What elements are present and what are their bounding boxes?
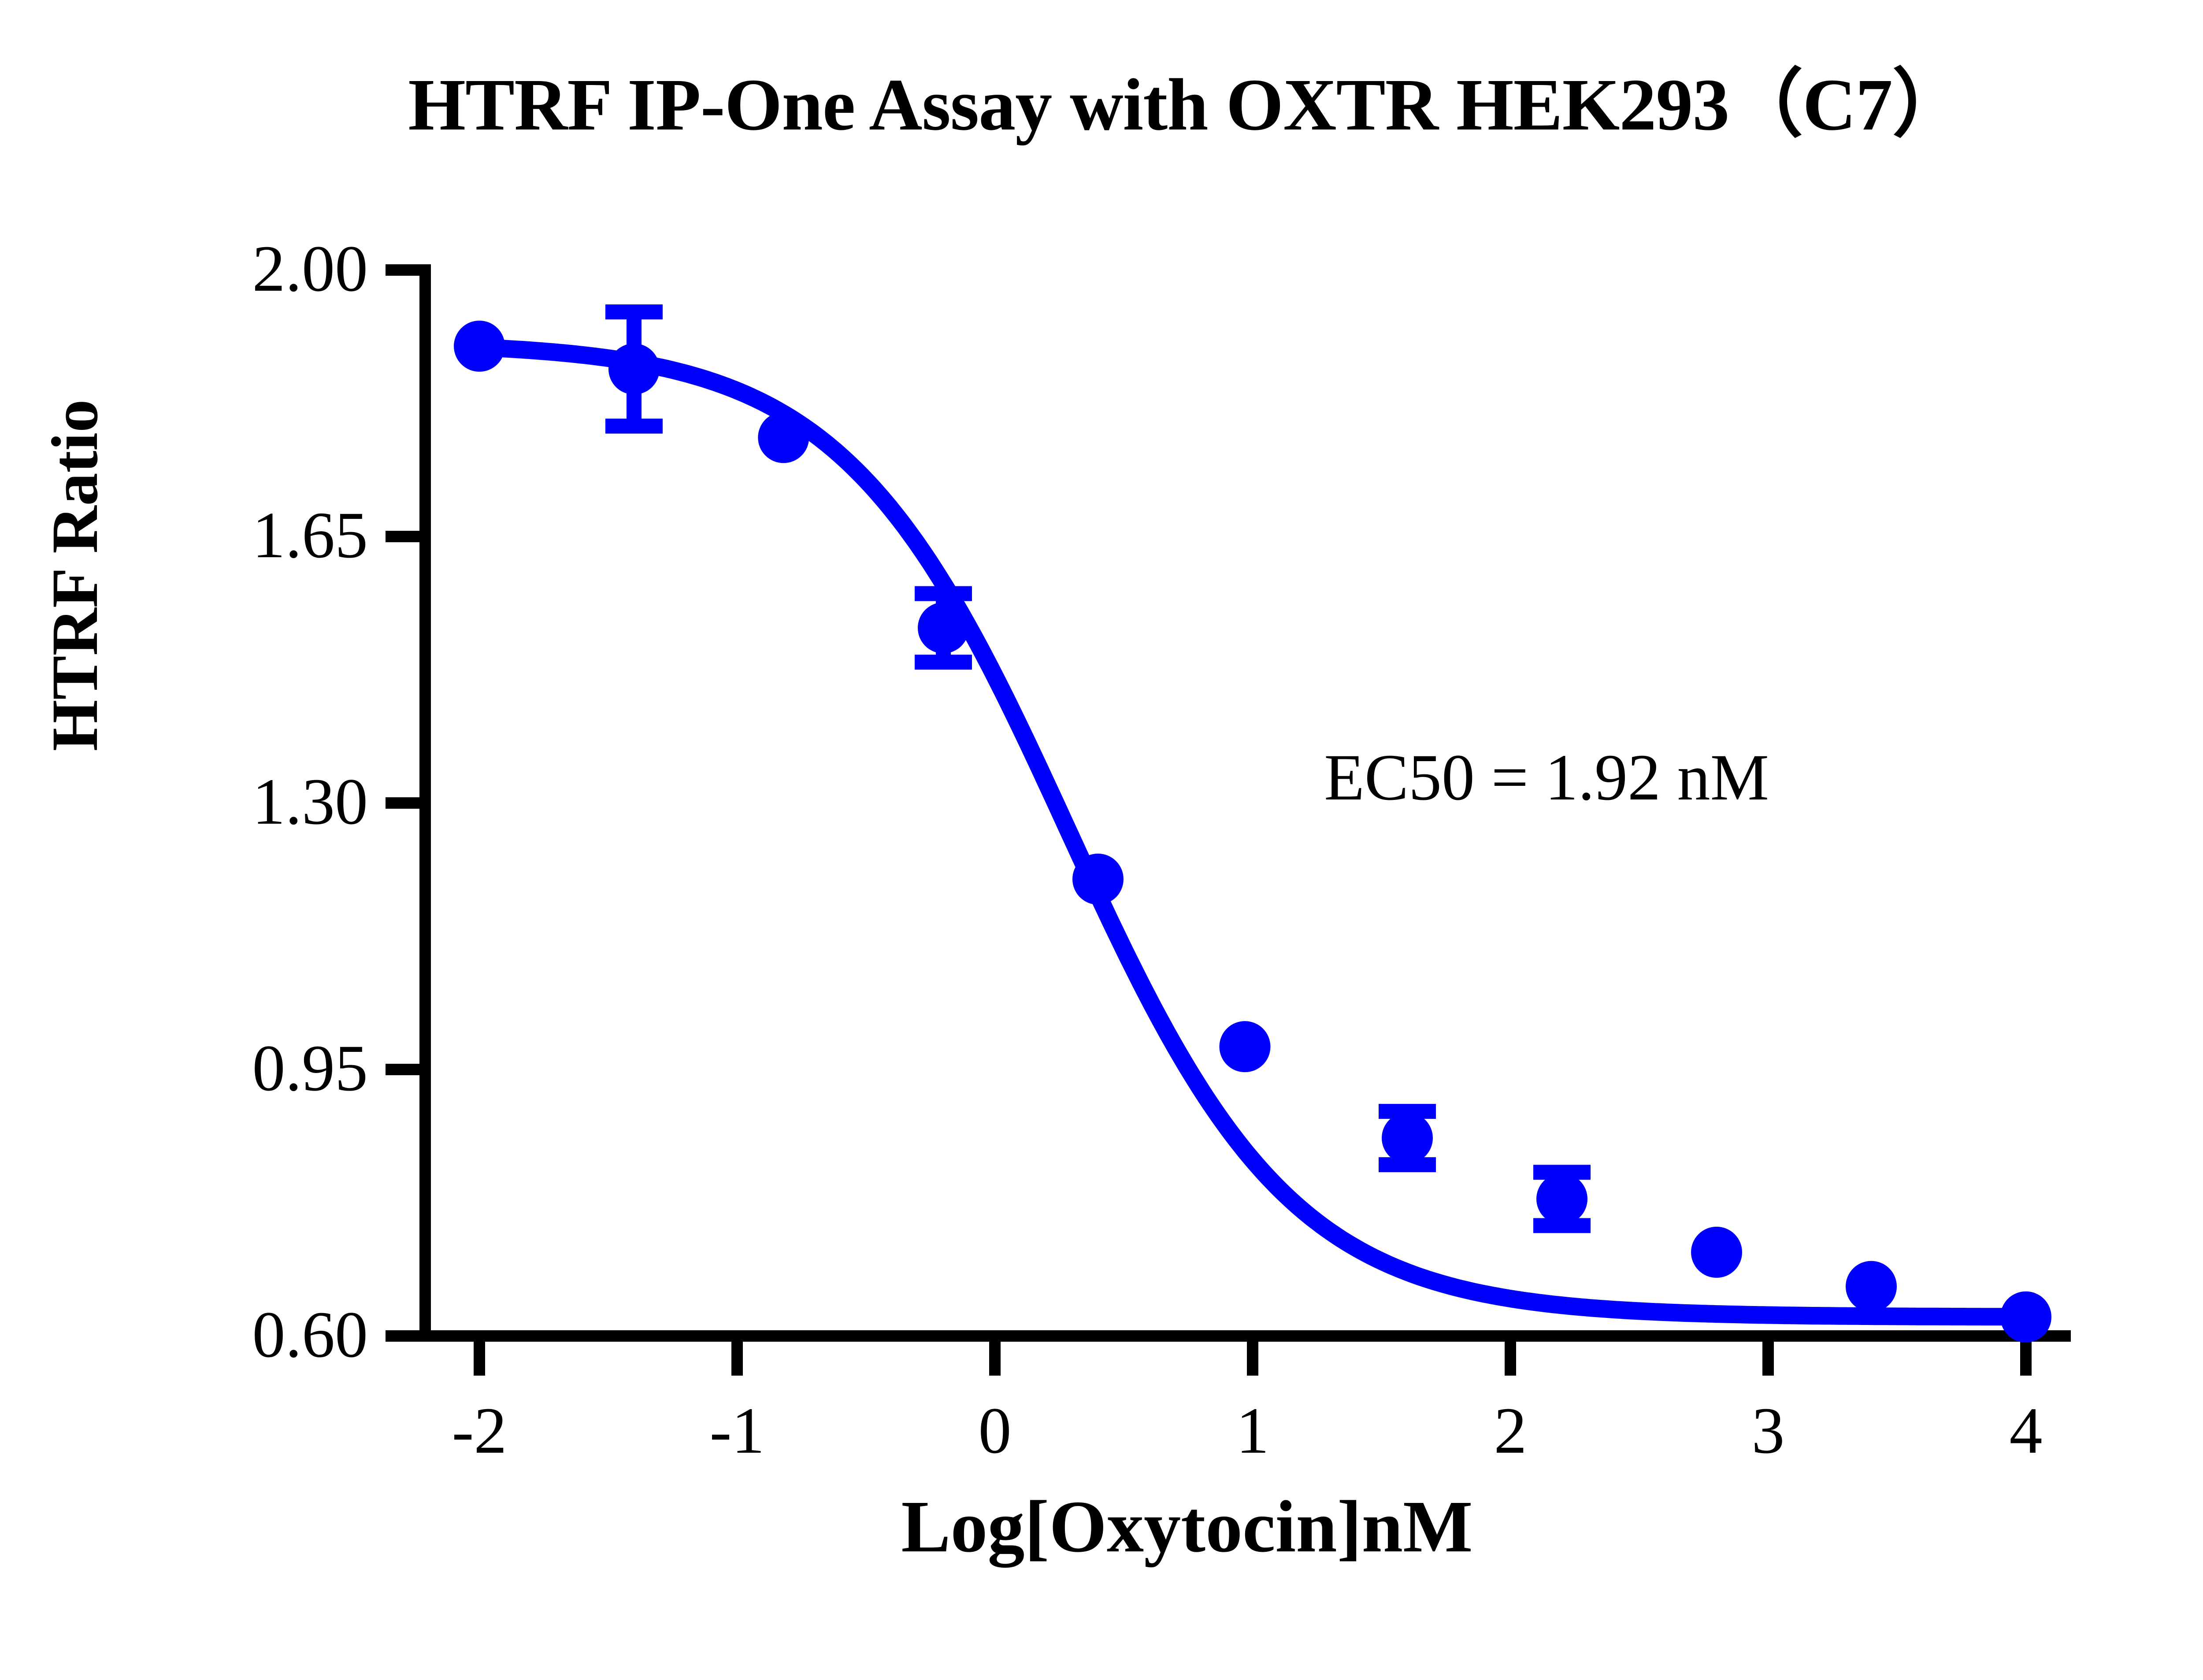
error-bars xyxy=(605,312,1591,1225)
data-markers xyxy=(454,321,2051,1343)
fit-curve xyxy=(479,348,2026,1317)
figure-root: HTRF IP-One Assay with OXTR HEK293（C7） H… xyxy=(0,0,2203,1680)
plot-area xyxy=(0,0,2203,1680)
